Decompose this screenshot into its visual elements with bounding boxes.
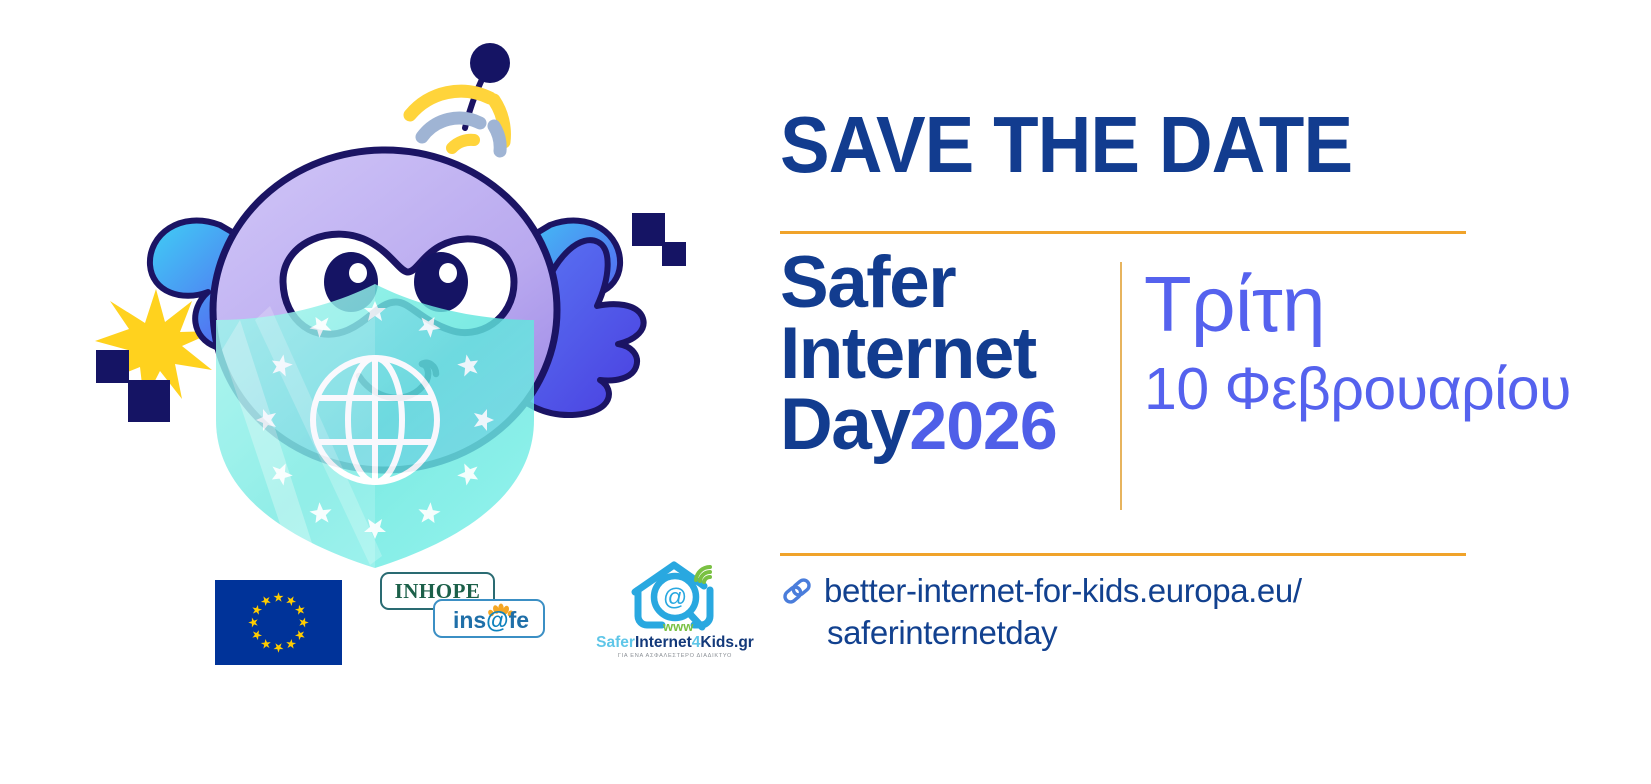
divider-vertical — [1120, 262, 1122, 510]
website-url-line-2[interactable]: saferinternetday — [827, 614, 1057, 651]
si4k-part-internet: Internet — [635, 634, 692, 651]
website-link[interactable]: better-internet-for-kids.europa.eu/ safe… — [780, 572, 1480, 652]
website-line-2-row: saferinternetday — [780, 614, 1480, 652]
protection-shield — [216, 284, 534, 568]
inhope-insafe-logo-group[interactable]: INHOPE ins@fe — [380, 572, 550, 642]
saferinternet4kids-logo[interactable]: @ www SaferInternet4Kids.gr ΓΙΑ ΕΝΑ ΑΣΦΑ… — [580, 560, 770, 665]
si4k-wordmark: SaferInternet4Kids.gr — [580, 634, 770, 652]
si4k-house-icon: @ www — [580, 560, 770, 632]
page-title: SAVE THE DATE — [780, 105, 1352, 185]
save-the-date-banner: INHOPE ins@fe — [0, 0, 1651, 784]
insafe-label: ins@fe — [435, 601, 547, 640]
campaign-line-2: Internet — [780, 319, 1110, 390]
event-day-month: 10 Φεβρουαρίου — [1144, 358, 1564, 422]
insafe-prefix: ins — [453, 607, 486, 634]
insafe-logo[interactable]: ins@fe — [433, 599, 545, 638]
si4k-tagline: ΓΙΑ ΕΝΑ ΑΣΦΑΛΕΣΤΕΡΟ ΔΙΑΔΙΚΤΥΟ — [580, 653, 770, 659]
campaign-year: 2026 — [909, 388, 1056, 464]
antenna-with-wifi-icon — [410, 43, 510, 151]
european-union-flag-logo[interactable] — [215, 580, 342, 670]
mascot-illustration — [70, 20, 730, 580]
si4k-at-symbol: @ — [663, 584, 687, 611]
insafe-suffix: fe — [509, 607, 529, 634]
partner-logo-strip: INHOPE ins@fe — [205, 560, 785, 680]
website-line-1-row: better-internet-for-kids.europa.eu/ — [780, 572, 1480, 610]
website-url-line-1[interactable]: better-internet-for-kids.europa.eu/ — [824, 572, 1302, 610]
divider-top — [780, 231, 1466, 234]
si4k-part-safer: Safer — [596, 634, 635, 651]
campaign-title: Safer Internet Day2026 — [780, 248, 1110, 460]
campaign-line-3: Day2026 — [780, 390, 1110, 461]
event-weekday: Τρίτη — [1144, 262, 1564, 346]
campaign-day-word: Day — [780, 384, 909, 465]
insafe-at-symbol: @ — [486, 607, 508, 634]
link-icon — [780, 576, 814, 606]
si4k-www-label: www — [662, 619, 694, 632]
si4k-part-kids: Kids.gr — [700, 634, 753, 651]
campaign-line-1: Safer — [780, 248, 1110, 319]
event-date-block: Τρίτη 10 Φεβρουαρίου — [1144, 262, 1564, 422]
text-panel: SAVE THE DATE Safer Internet Day2026 Τρί… — [778, 0, 1558, 784]
divider-bottom — [780, 553, 1466, 556]
eu-flag-icon — [215, 580, 342, 665]
